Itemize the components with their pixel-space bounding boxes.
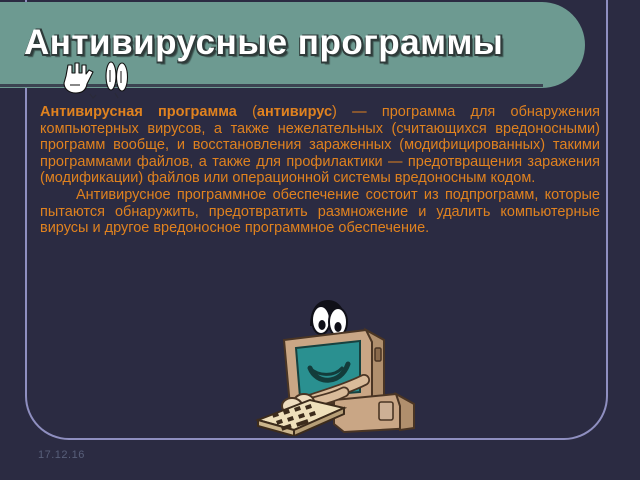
cartoon-computer-icon [248,296,434,436]
slide-canvas: Антивирусные программы Антивирусная прог… [0,0,640,480]
cartoon-hand-icon [60,60,152,100]
term-antivirus-program: Антивирусная программа [40,104,237,120]
term-antivirus: антивирус [257,104,332,120]
body-text-block: Антивирусная программа (антивирус) — про… [40,104,600,237]
paren-open: ( [237,104,257,120]
footer-date: 17.12.16 [38,449,85,461]
paragraph-1: Антивирусная программа (антивирус) — про… [40,104,600,187]
paragraph-2: Антивирусное программное обеспечение сос… [40,187,600,237]
page-title: Антивирусные программы [24,23,503,63]
